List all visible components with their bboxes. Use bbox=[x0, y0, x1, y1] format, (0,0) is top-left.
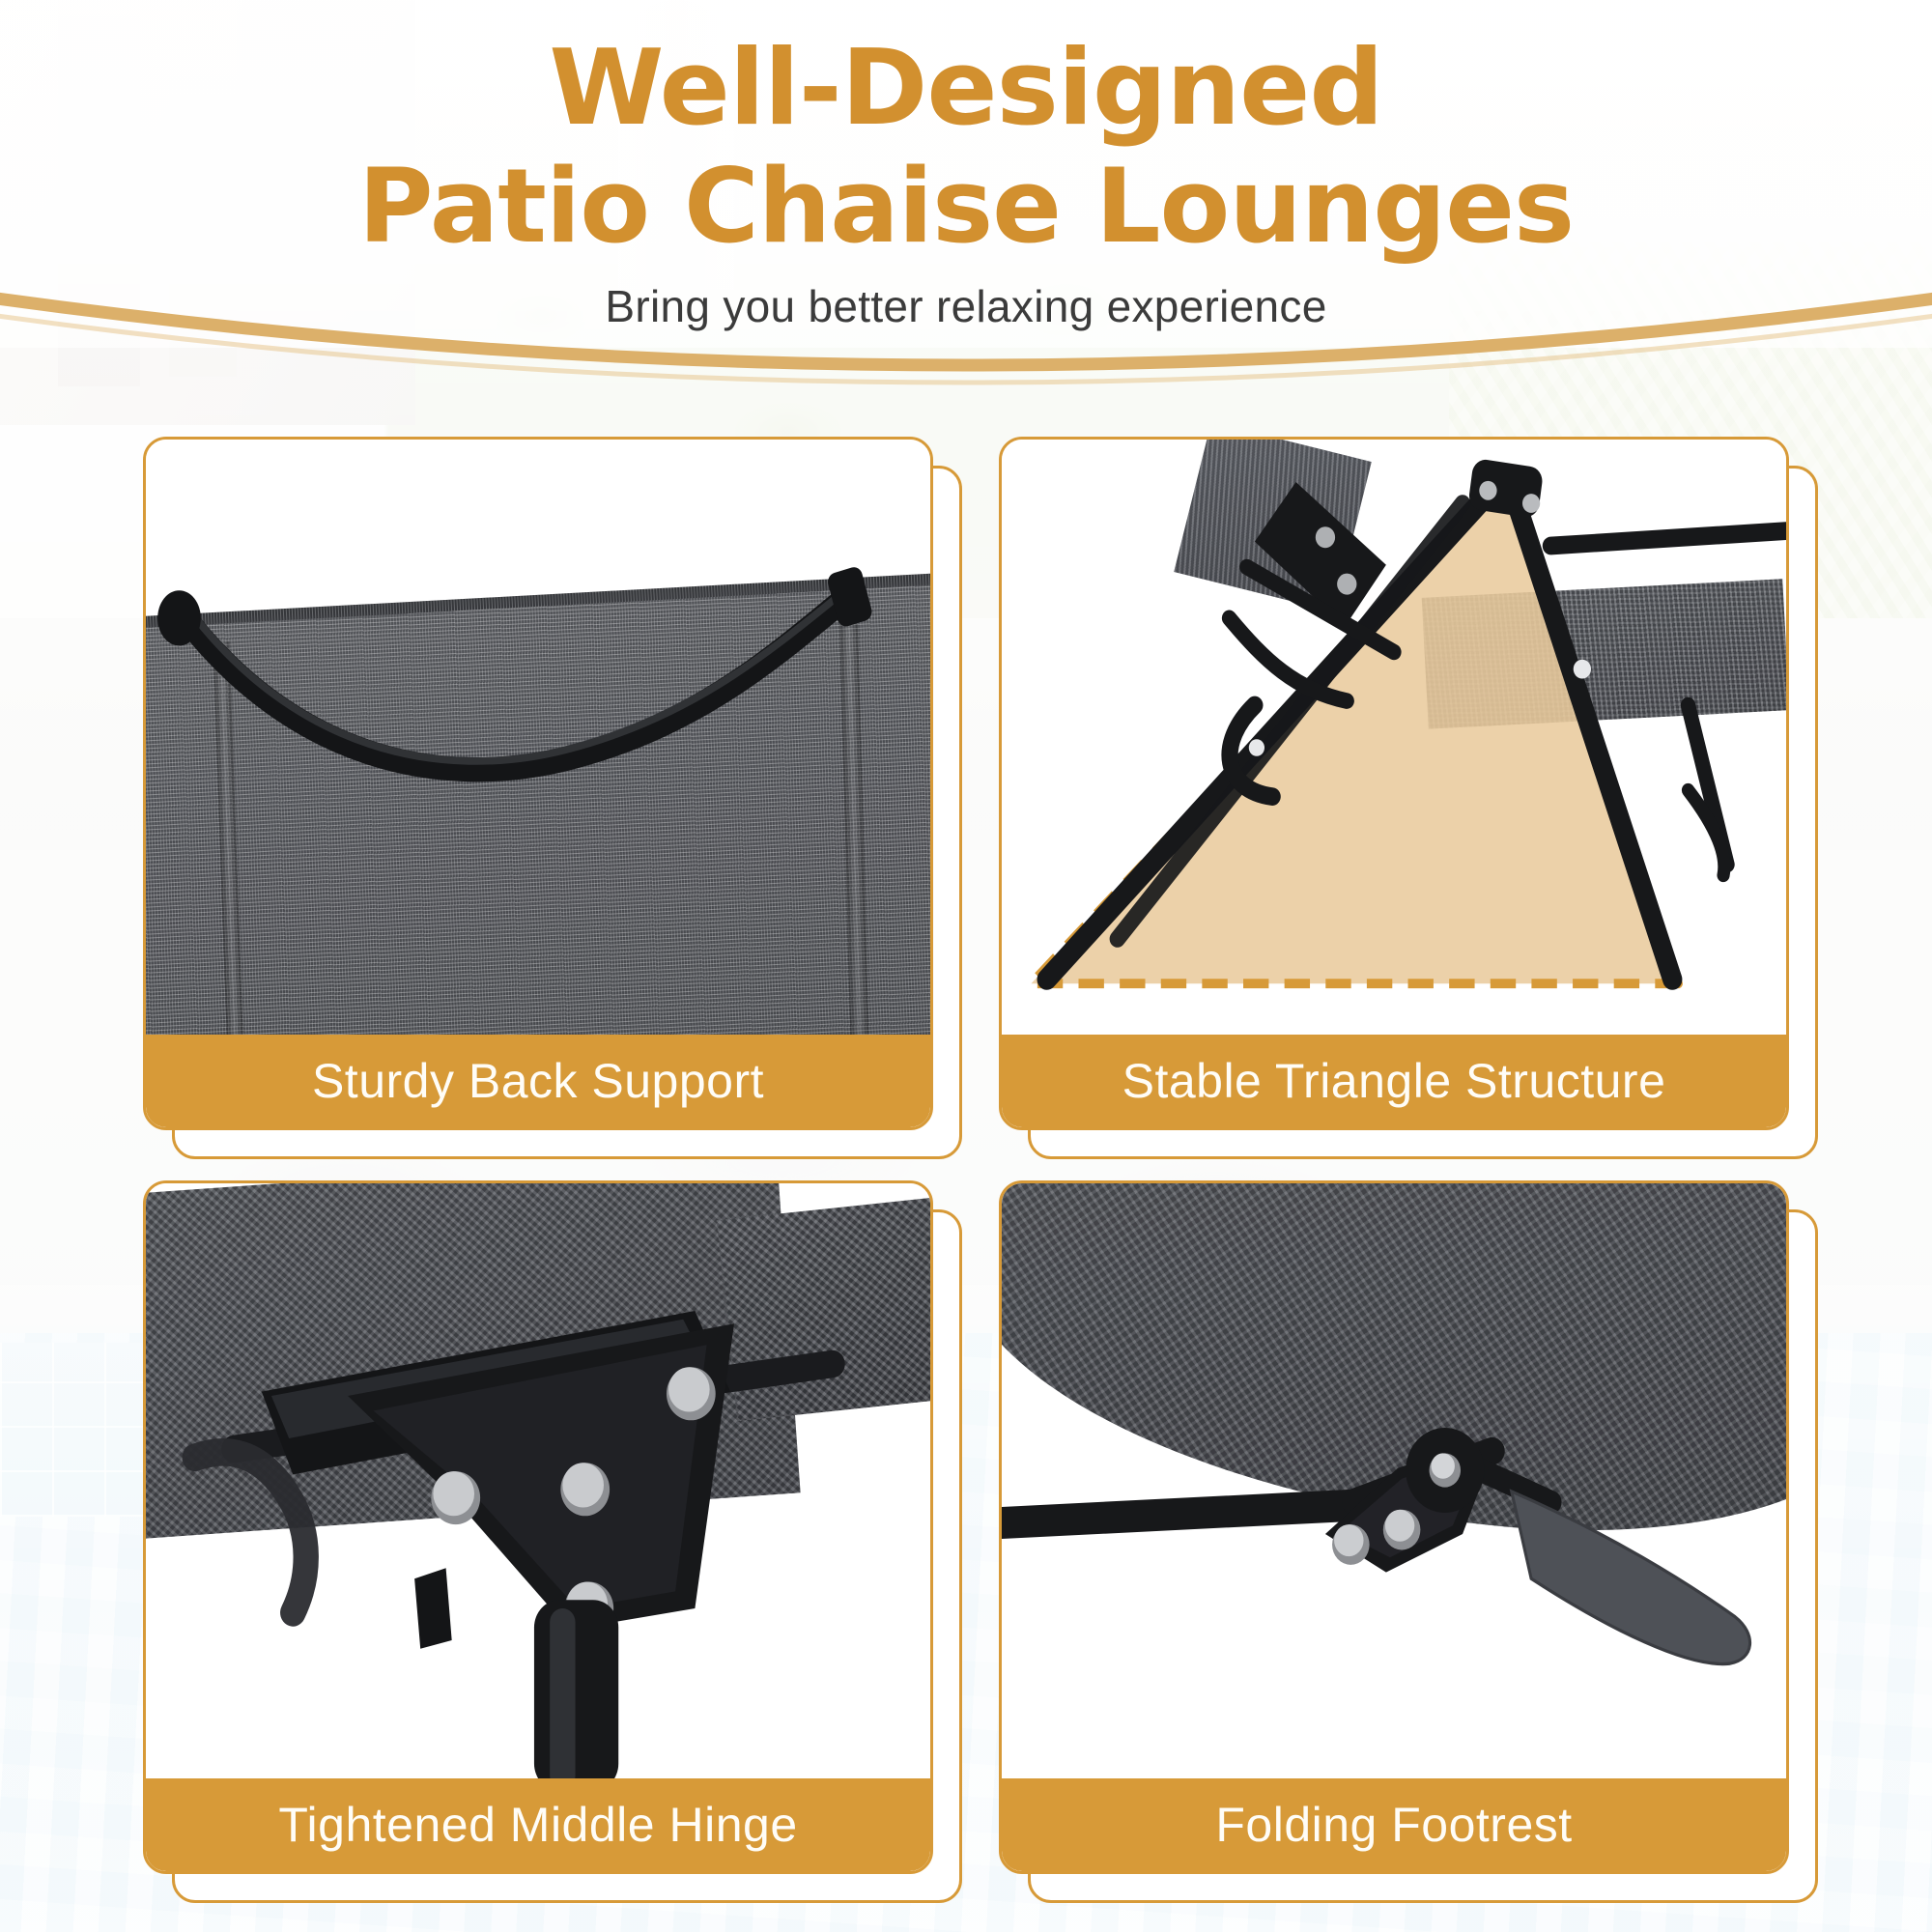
panel-photo-middle-hinge bbox=[146, 1183, 930, 1778]
hinge-bracket-illustration bbox=[146, 1183, 930, 1778]
panel-photo-folding-footrest bbox=[1002, 1183, 1786, 1778]
feature-panel-folding-footrest[interactable]: Folding Footrest bbox=[999, 1180, 1789, 1874]
feature-panel-tightened-middle-hinge[interactable]: Tightened Middle Hinge bbox=[143, 1180, 933, 1874]
panel-photo-back-support bbox=[146, 440, 930, 1035]
panel-caption-bar: Tightened Middle Hinge bbox=[146, 1778, 930, 1871]
feature-panel-stable-triangle-structure[interactable]: Stable Triangle Structure bbox=[999, 437, 1789, 1130]
page-title-line-2: Patio Chaise Lounges bbox=[0, 155, 1932, 259]
curved-divider bbox=[0, 290, 1932, 406]
panel-card[interactable]: Tightened Middle Hinge bbox=[143, 1180, 933, 1874]
panel-caption-label: Sturdy Back Support bbox=[312, 1053, 764, 1109]
panel-card[interactable]: Stable Triangle Structure bbox=[999, 437, 1789, 1130]
curved-support-bar-icon bbox=[146, 440, 930, 1035]
triangle-structure-illustration bbox=[1002, 440, 1786, 1035]
panel-caption-bar: Sturdy Back Support bbox=[146, 1035, 930, 1127]
panel-caption-label: Folding Footrest bbox=[1215, 1797, 1572, 1853]
panel-photo-triangle-structure bbox=[1002, 440, 1786, 1035]
title-block: Well-Designed Patio Chaise Lounges Bring… bbox=[0, 0, 1932, 332]
panel-caption-label: Stable Triangle Structure bbox=[1122, 1053, 1666, 1109]
panel-caption-bar: Folding Footrest bbox=[1002, 1778, 1786, 1871]
feature-panel-sturdy-back-support[interactable]: Sturdy Back Support bbox=[143, 437, 933, 1130]
footrest-hinge-illustration bbox=[1002, 1183, 1786, 1778]
feature-panel-grid: Sturdy Back Support bbox=[0, 437, 1932, 1932]
panel-caption-bar: Stable Triangle Structure bbox=[1002, 1035, 1786, 1127]
panel-card[interactable]: Sturdy Back Support bbox=[143, 437, 933, 1130]
panel-caption-label: Tightened Middle Hinge bbox=[278, 1797, 797, 1853]
page-title-line-1: Well-Designed bbox=[0, 37, 1932, 141]
panel-card[interactable]: Folding Footrest bbox=[999, 1180, 1789, 1874]
